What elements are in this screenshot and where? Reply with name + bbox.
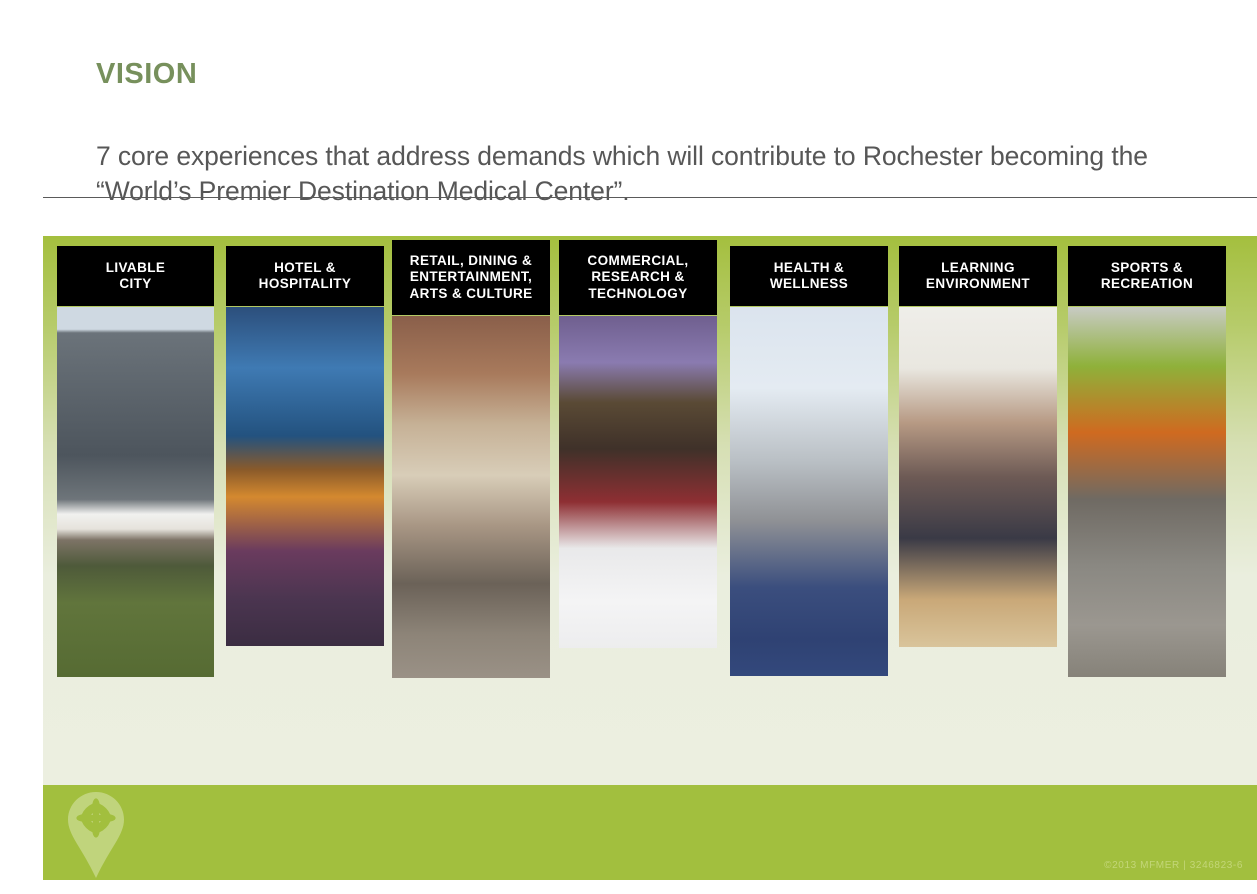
- panel-photo-retail-dining-entertainment-arts-culture: [392, 316, 550, 678]
- panel-header-health-wellness: HEALTH & WELLNESS: [730, 246, 888, 306]
- panel-label: HEALTH & WELLNESS: [770, 260, 848, 293]
- slide-subtitle: 7 core experiences that address demands …: [96, 139, 1226, 209]
- page-title: VISION: [96, 59, 197, 91]
- photo-image: [730, 307, 888, 676]
- panel-label: HOTEL & HOSPITALITY: [259, 260, 352, 293]
- panel-photo-sports-recreation: [1068, 307, 1226, 677]
- panel-header-sports-recreation: SPORTS & RECREATION: [1068, 246, 1226, 306]
- experience-panel-health-wellness[interactable]: HEALTH & WELLNESS: [730, 236, 888, 676]
- experiences-band: LIVABLE CITYHOTEL & HOSPITALITYRETAIL, D…: [43, 236, 1257, 785]
- panel-photo-commercial-research-technology: [559, 316, 717, 648]
- panel-header-commercial-research-technology: COMMERCIAL, RESEARCH & TECHNOLOGY: [559, 240, 717, 315]
- photo-image: [899, 307, 1057, 647]
- photo-image: [226, 307, 384, 646]
- slide-footer: ©2013 MFMER | 3246823-6: [43, 785, 1257, 880]
- panel-header-retail-dining-entertainment-arts-culture: RETAIL, DINING & ENTERTAINMENT, ARTS & C…: [392, 240, 550, 315]
- panel-label: RETAIL, DINING & ENTERTAINMENT, ARTS & C…: [409, 253, 532, 302]
- slide-root: VISION 7 core experiences that address d…: [0, 0, 1257, 894]
- panel-label: SPORTS & RECREATION: [1101, 260, 1193, 293]
- copyright-text: ©2013 MFMER | 3246823-6: [1104, 860, 1243, 871]
- photo-image: [392, 316, 550, 678]
- photo-image: [57, 307, 214, 677]
- experience-panel-learning-environment[interactable]: LEARNING ENVIRONMENT: [899, 236, 1057, 647]
- panel-photo-hotel-hospitality: [226, 307, 384, 646]
- panel-photo-livable-city: [57, 307, 214, 677]
- panel-header-learning-environment: LEARNING ENVIRONMENT: [899, 246, 1057, 306]
- photo-image: [559, 316, 717, 648]
- experience-panel-retail-dining-entertainment-arts-culture[interactable]: RETAIL, DINING & ENTERTAINMENT, ARTS & C…: [392, 236, 550, 678]
- experience-panel-livable-city[interactable]: LIVABLE CITY: [57, 236, 214, 677]
- panel-label: COMMERCIAL, RESEARCH & TECHNOLOGY: [587, 253, 688, 302]
- experience-panel-sports-recreation[interactable]: SPORTS & RECREATION: [1068, 236, 1226, 677]
- panel-header-hotel-hospitality: HOTEL & HOSPITALITY: [226, 246, 384, 306]
- panel-label: LIVABLE CITY: [106, 260, 166, 293]
- panel-photo-learning-environment: [899, 307, 1057, 647]
- experience-panel-commercial-research-technology[interactable]: COMMERCIAL, RESEARCH & TECHNOLOGY: [559, 236, 717, 648]
- experience-panel-hotel-hospitality[interactable]: HOTEL & HOSPITALITY: [226, 236, 384, 646]
- photo-image: [1068, 307, 1226, 677]
- panel-photo-health-wellness: [730, 307, 888, 676]
- panel-header-livable-city: LIVABLE CITY: [57, 246, 214, 306]
- header-divider: [43, 197, 1257, 198]
- panel-label: LEARNING ENVIRONMENT: [926, 260, 1030, 293]
- map-pin-asterisk-logo: [65, 791, 127, 879]
